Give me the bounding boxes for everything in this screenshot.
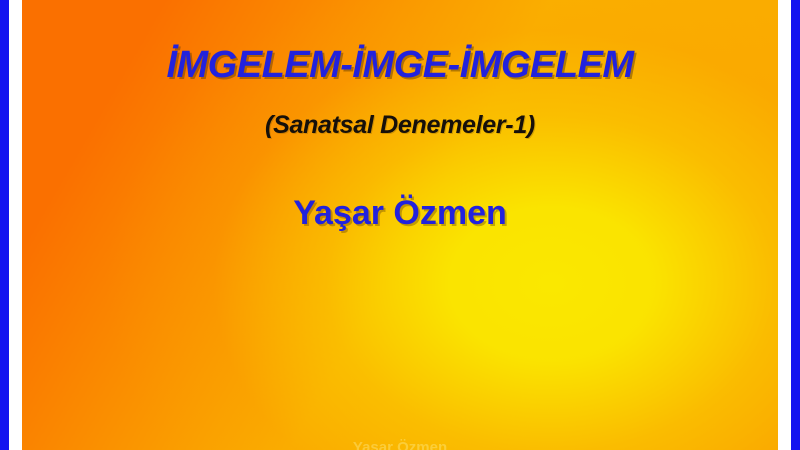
right-white-gutter (778, 0, 791, 450)
page-subtitle: (Sanatsal Denemeler-1) (22, 111, 778, 140)
left-white-gutter (9, 0, 22, 450)
footer-faint-text: Yaşar Özmen (22, 439, 778, 450)
slide-background: İMGELEM-İMGE-İMGELEM (Sanatsal Denemeler… (22, 0, 778, 450)
slide-canvas: İMGELEM-İMGE-İMGELEM (Sanatsal Denemeler… (0, 0, 800, 450)
author-name: Yaşar Özmen (22, 194, 778, 233)
left-blue-edge-band (0, 0, 9, 450)
title-block: İMGELEM-İMGE-İMGELEM (Sanatsal Denemeler… (22, 0, 778, 450)
right-blue-edge-band (791, 0, 800, 450)
page-title: İMGELEM-İMGE-İMGELEM (22, 44, 778, 87)
